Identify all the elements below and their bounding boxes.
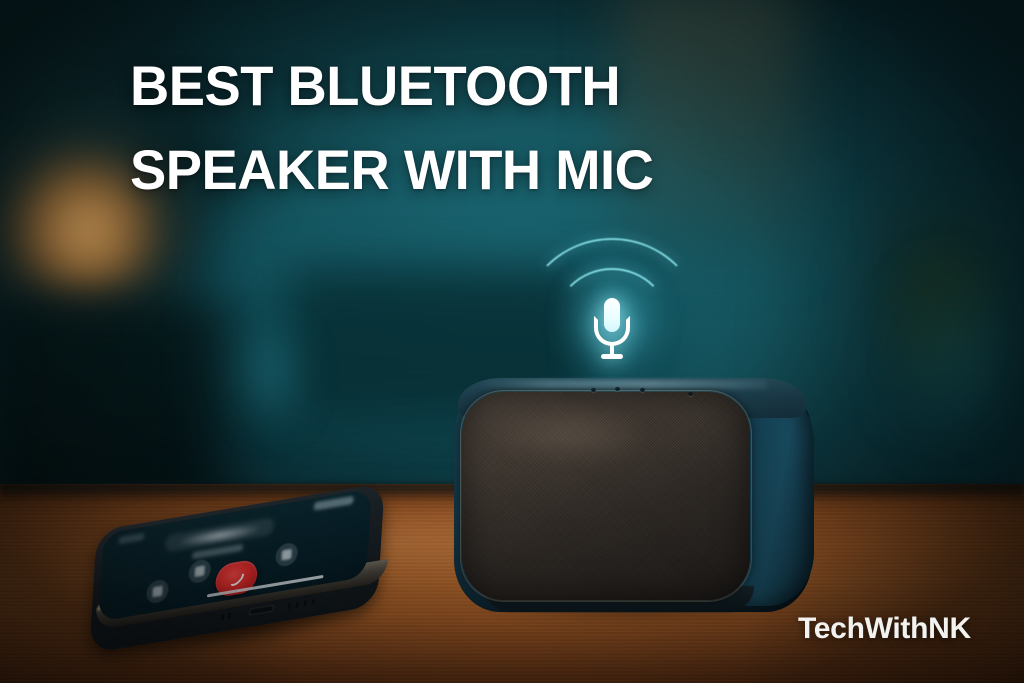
page-title: BEST BLUETOOTH SPEAKER WITH MIC [130, 58, 809, 198]
title-line-2: SPEAKER WITH MIC [130, 142, 809, 198]
title-line-1: BEST BLUETOOTH [130, 58, 809, 114]
channel-watermark: TechWithNK [798, 612, 971, 646]
thumbnail-scene: BEST BLUETOOTH SPEAKER WITH MIC TechWith… [0, 0, 1024, 683]
